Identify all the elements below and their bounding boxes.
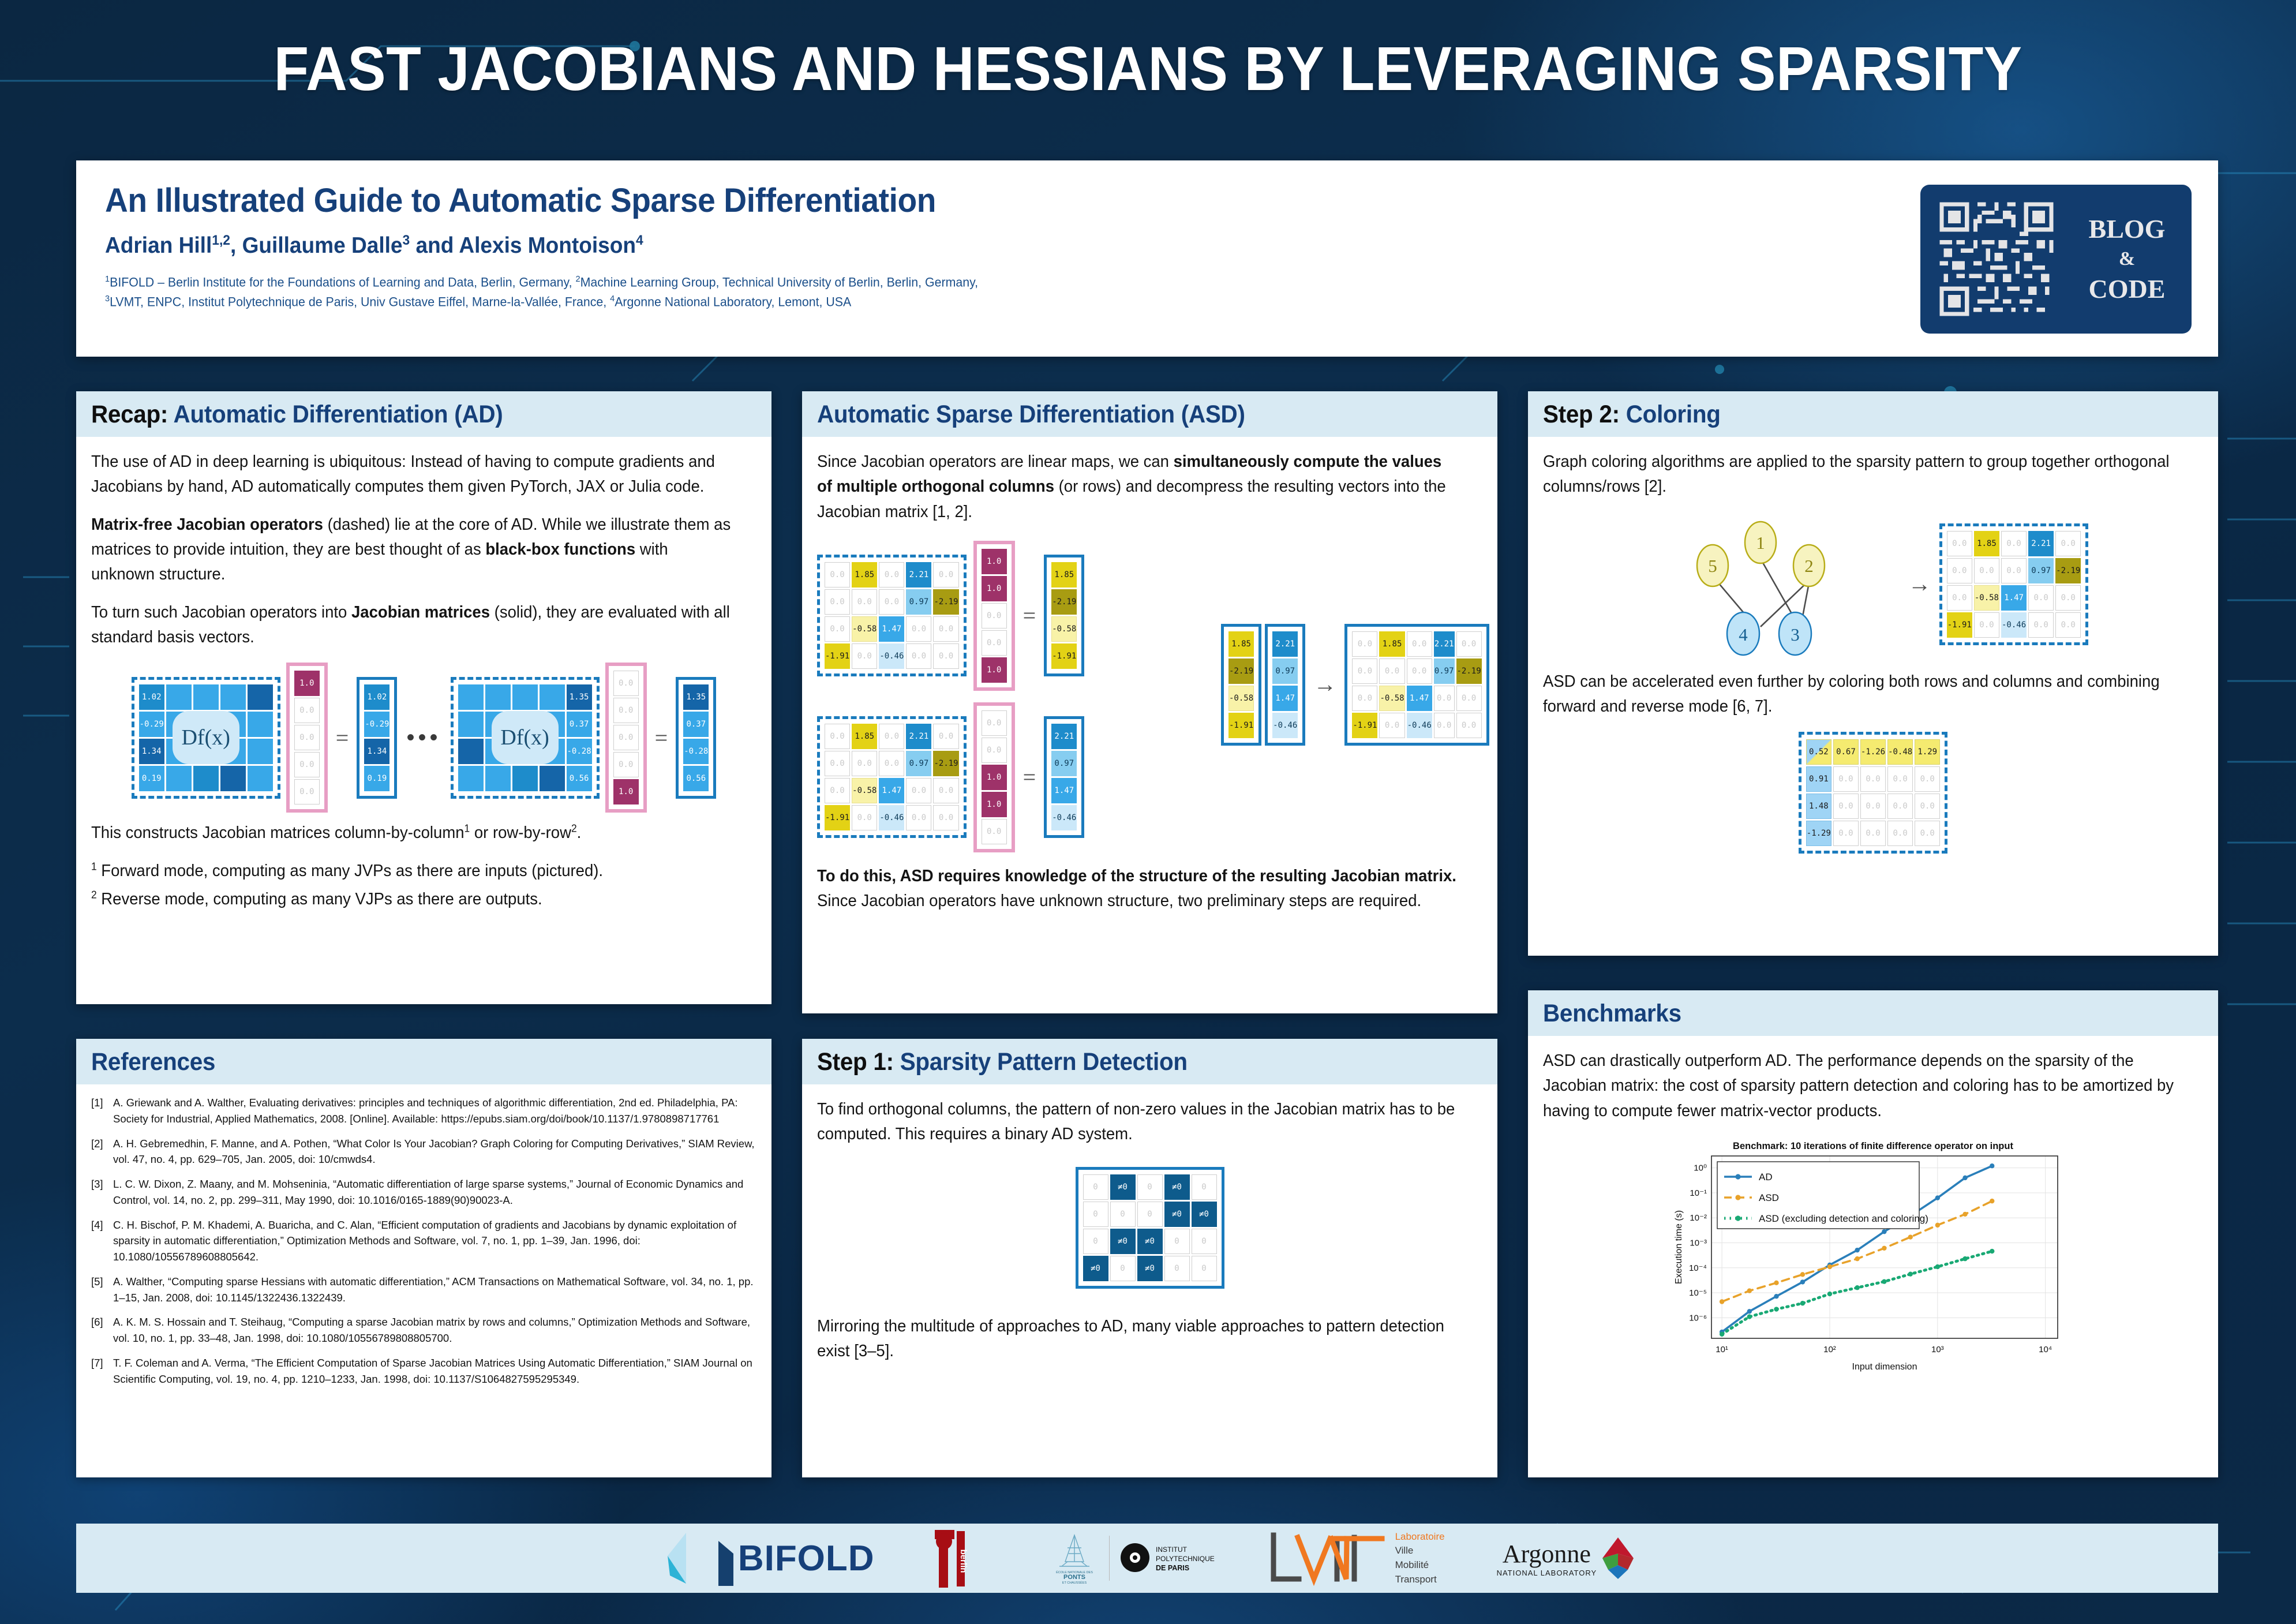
panel-step2-header: Step 2: Coloring (1528, 391, 2218, 437)
reference-text: C. H. Bischof, P. M. Khademi, A. Buarich… (113, 1217, 756, 1265)
lvmt-sub-ville: Ville (1395, 1544, 1445, 1558)
result-column-left: 1.02-0.291.340.19 (357, 677, 397, 799)
reference-text: L. C. W. Dixon, Z. Maany, and M. Mohseni… (113, 1176, 756, 1208)
panel-asd-title: Automatic Sparse Differentiation (ASD) (817, 401, 1245, 428)
panel-benchmarks-header: Benchmarks (1528, 990, 2218, 1036)
panel-references-title: References (91, 1048, 215, 1076)
reference-item: [1]A. Griewank and A. Walther, Evaluatin… (91, 1095, 756, 1127)
step2-paragraph-2: ASD can be accelerated even further by c… (1543, 669, 2180, 720)
panel-step2-body: Graph coloring algorithms are applied to… (1528, 437, 2218, 865)
chart-data-point (1882, 1229, 1886, 1234)
chart-ytick: 10⁻² (1690, 1213, 1707, 1223)
chart-data-point (1990, 1199, 1994, 1203)
chart-ytick: 10⁻⁵ (1689, 1288, 1707, 1298)
df-x-operator-label-left: Df(x) (173, 711, 239, 764)
chart-ytick: 10⁻⁶ (1689, 1313, 1707, 1323)
step1-paragraph-1: To find orthogonal columns, the pattern … (817, 1097, 1459, 1147)
header-card: An Illustrated Guide to Automatic Sparse… (76, 160, 2218, 357)
reference-number: [3] (91, 1176, 113, 1208)
logo-argonne-sub: NATIONAL LABORATORY (1497, 1569, 1597, 1577)
asd-equals-1: = (1023, 602, 1036, 629)
jacobian-operator-right: 1.35 0.37 -0.28 0.56 Df(x) (451, 677, 600, 799)
asd-compressed-2: 2.210.971.47-0.46 (1044, 716, 1084, 838)
step2-coloring-figure: 1 2 5 4 3 → 0.01.850.02.210.0 0.00.00.00… (1543, 512, 2203, 657)
reference-number: [4] (91, 1217, 113, 1265)
reference-text: A. K. M. S. Hossain and T. Steihaug, “Co… (113, 1314, 756, 1346)
chart-data-point (1962, 1256, 1967, 1261)
reference-number: [1] (91, 1095, 113, 1127)
panel-step1-title-blue: Sparsity Pattern Detection (900, 1048, 1188, 1076)
panel-step1-body: To find orthogonal columns, the pattern … (802, 1084, 1497, 1375)
asd-p1-start: Since Jacobian operators are linear maps… (817, 452, 1174, 471)
chart-data-point (1935, 1223, 1940, 1228)
qr-label-code: CODE (2068, 272, 2186, 306)
panel-recap-title-black: Recap: (91, 401, 168, 428)
svg-text:DE PARIS: DE PARIS (1156, 1564, 1189, 1572)
asd-seed-vector-1: 1.01.00.00.01.0 (973, 541, 1015, 691)
chart-xtick: 10¹ (1716, 1345, 1728, 1354)
svg-text:PONTS: PONTS (1063, 1574, 1085, 1581)
chart-xlabel: Input dimension (1852, 1362, 1917, 1372)
chart-data-point (1800, 1279, 1805, 1284)
basis-vector-right: 0.00.00.00.01.0 (605, 663, 647, 813)
lvmt-icon (1268, 1529, 1392, 1587)
chart-data-point (1908, 1271, 1913, 1276)
logo-argonne-text: Argonne (1503, 1539, 1591, 1569)
reference-item: [4]C. H. Bischof, P. M. Khademi, A. Buar… (91, 1217, 756, 1265)
basis-vector-left: 1.00.00.00.00.0 (286, 663, 328, 813)
lvmt-sub-laboratoire: Laboratoire (1395, 1530, 1445, 1544)
svg-text:ET CHAUSSÉES: ET CHAUSSÉES (1062, 1581, 1087, 1585)
qr-label: BLOG & CODE (2068, 212, 2186, 306)
asd-figure-row2: 0.01.850.02.210.0 0.00.00.00.97-2.19 0.0… (817, 702, 1084, 852)
chart-legend-label: ASD (1759, 1192, 1779, 1203)
poster-title: FAST JACOBIANS AND HESSIANS BY LEVERAGIN… (92, 22, 2204, 114)
affiliations: 1BIFOLD – Berlin Institute for the Found… (105, 272, 2128, 312)
chart-data-point (1720, 1299, 1724, 1304)
chart-ytick: 10⁻³ (1690, 1238, 1707, 1248)
asd-figure: 0.01.850.02.210.0 0.00.00.00.97-2.19 0.0… (817, 537, 1482, 860)
ponts-chaussees-icon: ÉCOLE NATIONALE DES PONTS ET CHAUSSÉES (1048, 1531, 1101, 1586)
panel-references: References [1]A. Griewank and A. Walther… (76, 1039, 771, 1477)
recap-figure-jvp: 1.02 -0.29 1.34 0.19 Df(x) 1.00.00.00.00… (91, 663, 756, 813)
reference-list: [1]A. Griewank and A. Walther, Evaluatin… (91, 1095, 756, 1387)
coloring-graph: 1 2 5 4 3 (1658, 512, 1900, 657)
tu-berlin-icon: berlin (927, 1526, 996, 1590)
svg-text:POLYTECHNIQUE: POLYTECHNIQUE (1156, 1555, 1215, 1563)
bifold-bar-icon (718, 1531, 733, 1586)
chart-data-point (1882, 1279, 1886, 1284)
panel-benchmarks-body: ASD can drastically outperform AD. The p… (1528, 1036, 2218, 1390)
asd-p2-bold: To do this, ASD requires knowledge of th… (817, 867, 1456, 885)
panel-step2-title-black: Step 2: (1543, 401, 1620, 428)
qr-blog-code-block[interactable]: BLOG & CODE (1920, 185, 2192, 334)
chart-data-point (1774, 1281, 1778, 1285)
argonne-icon (1600, 1536, 1636, 1580)
chart-data-point (1800, 1272, 1805, 1277)
equals-sign-left: = (336, 724, 349, 751)
panel-references-body: [1]A. Griewank and A. Walther, Evaluatin… (76, 1084, 771, 1407)
chart-data-point (1747, 1314, 1752, 1319)
chart-legend-label: AD (1759, 1172, 1773, 1183)
chart-data-point (1962, 1212, 1967, 1217)
step2-colored-matrix: 0.01.850.02.210.0 0.00.00.00.97-2.19 0.0… (1939, 523, 2089, 645)
asd-decompressed-jacobian: 0.01.850.02.210.0 0.00.00.00.97-2.19 0.0… (1344, 624, 1489, 746)
chart-data-point (1827, 1292, 1832, 1296)
panel-step2-title-blue: Coloring (1626, 401, 1721, 428)
reference-text: A. Walther, “Computing sparse Hessians w… (113, 1274, 756, 1306)
ellipsis: ••• (406, 725, 441, 751)
asd-jacobian-1: 0.01.850.02.210.0 0.00.00.00.97-2.19 0.0… (817, 555, 967, 676)
step1-paragraph-2: Mirroring the multitude of approaches to… (817, 1314, 1459, 1364)
reference-item: [6]A. K. M. S. Hossain and T. Steihaug, … (91, 1314, 756, 1346)
chart-data-point (1855, 1248, 1859, 1252)
recap-footnote-2: 2 Reverse mode, computing as many VJPs a… (91, 887, 733, 912)
jacobian-operator-left: 1.02 -0.29 1.34 0.19 Df(x) (132, 677, 280, 799)
chart-xtick: 10⁴ (2039, 1345, 2052, 1354)
panel-recap-header: Recap: Automatic Differentiation (AD) (76, 391, 771, 437)
qr-code-icon[interactable] (1935, 198, 2058, 320)
recap-p2-bold2: black-box functions (485, 540, 635, 559)
graph-node-4: 4 (1739, 624, 1748, 645)
bifold-icon (658, 1531, 714, 1586)
reference-item: [2]A. H. Gebremedhin, F. Manne, and A. P… (91, 1136, 756, 1168)
recap-paragraph-2: Matrix-free Jacobian operators (dashed) … (91, 512, 733, 588)
chart-data-point (1800, 1301, 1805, 1305)
equals-sign-right: = (655, 724, 668, 751)
logo-institut-polytechnique: ÉCOLE NATIONALE DES PONTS ET CHAUSSÉES I… (1048, 1531, 1216, 1586)
asd-p2-end: Since Jacobian operators have unknown st… (817, 892, 1421, 910)
logo-bifold: BIFOLD (658, 1531, 875, 1586)
chart-data-point (1908, 1234, 1913, 1239)
recap-p3-bold: Jacobian matrices (351, 603, 490, 622)
reference-text: A. H. Gebremedhin, F. Manne, and A. Poth… (113, 1136, 756, 1168)
panel-step2: Step 2: Coloring Graph coloring algorith… (1528, 391, 2218, 956)
chart-data-point (1962, 1176, 1967, 1180)
panel-asd-body: Since Jacobian operators are linear maps… (802, 437, 1497, 926)
recap-p2-bold: Matrix-free Jacobian operators (91, 515, 323, 534)
reference-text: A. Griewank and A. Walther, Evaluating d… (113, 1095, 756, 1127)
chart-xtick: 10² (1823, 1345, 1836, 1354)
logo-argonne: Argonne NATIONAL LABORATORY (1497, 1536, 1636, 1580)
chart-data-point (1720, 1332, 1724, 1337)
chart-data-point (1774, 1294, 1778, 1299)
reference-item: [3]L. C. W. Dixon, Z. Maany, and M. Mohs… (91, 1176, 756, 1208)
institut-polytechnique-icon: INSTITUT POLYTECHNIQUE DE PARIS (1118, 1536, 1216, 1581)
benchmarks-paragraph-1: ASD can drastically outperform AD. The p… (1543, 1049, 2180, 1124)
chart-data-point (1935, 1195, 1940, 1200)
panel-recap-title-blue: Automatic Differentiation (AD) (174, 401, 503, 428)
step2-bicoloring-figure: 0.520.67-1.26-0.481.29 0.910.00.00.00.0 … (1543, 732, 2203, 854)
panel-step1-header: Step 1: Sparsity Pattern Detection (802, 1039, 1497, 1084)
chart-data-point (1990, 1163, 1994, 1168)
recap-p3-start: To turn such Jacobian operators into (91, 603, 351, 622)
graph-node-5: 5 (1708, 556, 1717, 576)
asd-compressed-col-a: 1.85-2.19-0.58-1.91 (1221, 624, 1261, 746)
panel-step1-title-black: Step 1: (817, 1048, 894, 1076)
chart-ytick: 10⁰ (1694, 1163, 1707, 1173)
reference-number: [6] (91, 1314, 113, 1346)
chart-data-point (1935, 1264, 1940, 1269)
chart-data-point (1990, 1249, 1994, 1253)
panel-step1: Step 1: Sparsity Pattern Detection To fi… (802, 1039, 1497, 1477)
reference-number: [5] (91, 1274, 113, 1306)
reference-text: T. F. Coleman and A. Verma, “The Efficie… (113, 1355, 756, 1387)
decompress-arrow: → (1313, 672, 1336, 698)
graph-node-2: 2 (1804, 556, 1814, 576)
lvmt-sub-transport: Transport (1395, 1573, 1445, 1587)
chart-data-point (1882, 1246, 1886, 1251)
reference-item: [7]T. F. Coleman and A. Verma, “The Effi… (91, 1355, 756, 1387)
result-column-right: 1.350.37-0.280.56 (676, 677, 716, 799)
chart-data-point (1855, 1285, 1859, 1290)
chart-data-point (1747, 1288, 1752, 1293)
df-x-operator-label-right: Df(x) (492, 711, 559, 764)
chart-legend-marker (1735, 1215, 1740, 1221)
chart-data-point (1827, 1264, 1832, 1269)
asd-equals-2: = (1023, 764, 1036, 791)
asd-paragraph-1: Since Jacobian operators are linear maps… (817, 450, 1459, 525)
panel-benchmarks: Benchmarks ASD can drastically outperfor… (1528, 990, 2218, 1477)
footer-logo-bar: BIFOLD berlin ÉCOLE NATIONALE DES PONTS … (76, 1524, 2218, 1593)
chart-legend-marker (1735, 1195, 1740, 1200)
reference-number: [7] (91, 1355, 113, 1387)
panel-benchmarks-title: Benchmarks (1543, 1000, 1681, 1027)
chart-data-point (1774, 1307, 1778, 1311)
asd-decompression: 1.85-2.19-0.58-1.91 2.210.971.47-0.46 → … (1221, 624, 1489, 746)
chart-ytick: 10⁻¹ (1690, 1188, 1707, 1198)
coloring-arrow: → (1908, 571, 1931, 597)
asd-seed-vector-2: 0.00.01.01.00.0 (973, 702, 1015, 852)
benchmark-chart-figure: Benchmark: 10 iterations of finite diffe… (1543, 1136, 2203, 1379)
qr-label-blog: BLOG (2068, 212, 2186, 246)
bicolor-matrix: 0.520.67-1.26-0.481.29 0.910.00.00.00.0 … (1799, 732, 1947, 854)
reference-number: [2] (91, 1136, 113, 1168)
step1-sparsity-pattern-figure: 0≠00≠00 000≠0≠0 0≠0≠000 ≠00≠000 (817, 1167, 1482, 1289)
panel-recap: Recap: Automatic Differentiation (AD) Th… (76, 391, 771, 1004)
lvmt-subtitle: Laboratoire Ville Mobilité Transport (1395, 1530, 1445, 1587)
chart-legend-label: ASD (excluding detection and coloring) (1759, 1213, 1928, 1224)
qr-label-amp: & (2068, 247, 2186, 272)
chart-data-point (1747, 1309, 1752, 1314)
asd-paragraph-2: To do this, ASD requires knowledge of th… (817, 864, 1459, 914)
svg-text:INSTITUT: INSTITUT (1156, 1546, 1188, 1554)
panel-recap-body: The use of AD in deep learning is ubiqui… (76, 437, 771, 927)
logo-bifold-text: BIFOLD (738, 1538, 875, 1579)
benchmark-chart: Benchmark: 10 iterations of finite diffe… (1671, 1136, 2075, 1379)
panel-references-header: References (76, 1039, 771, 1084)
poster-subtitle: An Illustrated Guide to Automatic Sparse… (105, 181, 2086, 220)
tu-berlin-text: berlin (958, 1550, 968, 1573)
panel-asd: Automatic Sparse Differentiation (ASD) S… (802, 391, 1497, 1013)
asd-compressed-col-b: 2.210.971.47-0.46 (1265, 624, 1305, 746)
author-list: Adrian Hill1,2, Guillaume Dalle3 and Ale… (105, 233, 2086, 259)
chart-title: Benchmark: 10 iterations of finite diffe… (1733, 1141, 2013, 1151)
chart-xtick: 10³ (1931, 1345, 1944, 1354)
reference-item: [5]A. Walther, “Computing sparse Hessian… (91, 1274, 756, 1306)
step2-paragraph-1: Graph coloring algorithms are applied to… (1543, 450, 2180, 500)
asd-figure-row1: 0.01.850.02.210.0 0.00.00.00.97-2.19 0.0… (817, 541, 1084, 691)
panel-asd-header: Automatic Sparse Differentiation (ASD) (802, 391, 1497, 437)
logo-lvmt: Laboratoire Ville Mobilité Transport (1268, 1529, 1445, 1587)
graph-node-1: 1 (1756, 533, 1765, 553)
recap-footnote-1: 1 Forward mode, computing as many JVPs a… (91, 859, 733, 884)
asd-jacobian-2: 0.01.850.02.210.0 0.00.00.00.97-2.19 0.0… (817, 716, 967, 838)
graph-node-3: 3 (1791, 624, 1800, 645)
chart-ylabel: Execution time (s) (1674, 1210, 1684, 1284)
sparsity-pattern-matrix: 0≠00≠00 000≠0≠0 0≠0≠000 ≠00≠000 (1076, 1167, 1224, 1289)
recap-paragraph-1: The use of AD in deep learning is ubiqui… (91, 450, 733, 500)
chart-ytick: 10⁻⁴ (1689, 1263, 1707, 1273)
chart-legend-marker (1735, 1174, 1740, 1179)
logo-tu-berlin: berlin (927, 1526, 996, 1590)
recap-paragraph-3: To turn such Jacobian operators into Jac… (91, 600, 733, 650)
recap-paragraph-4: This constructs Jacobian matrices column… (91, 821, 733, 845)
lvmt-sub-mobilite: Mobilité (1395, 1558, 1445, 1573)
chart-data-point (1855, 1256, 1859, 1261)
asd-compressed-1: 1.85-2.19-0.58-1.91 (1044, 555, 1084, 676)
